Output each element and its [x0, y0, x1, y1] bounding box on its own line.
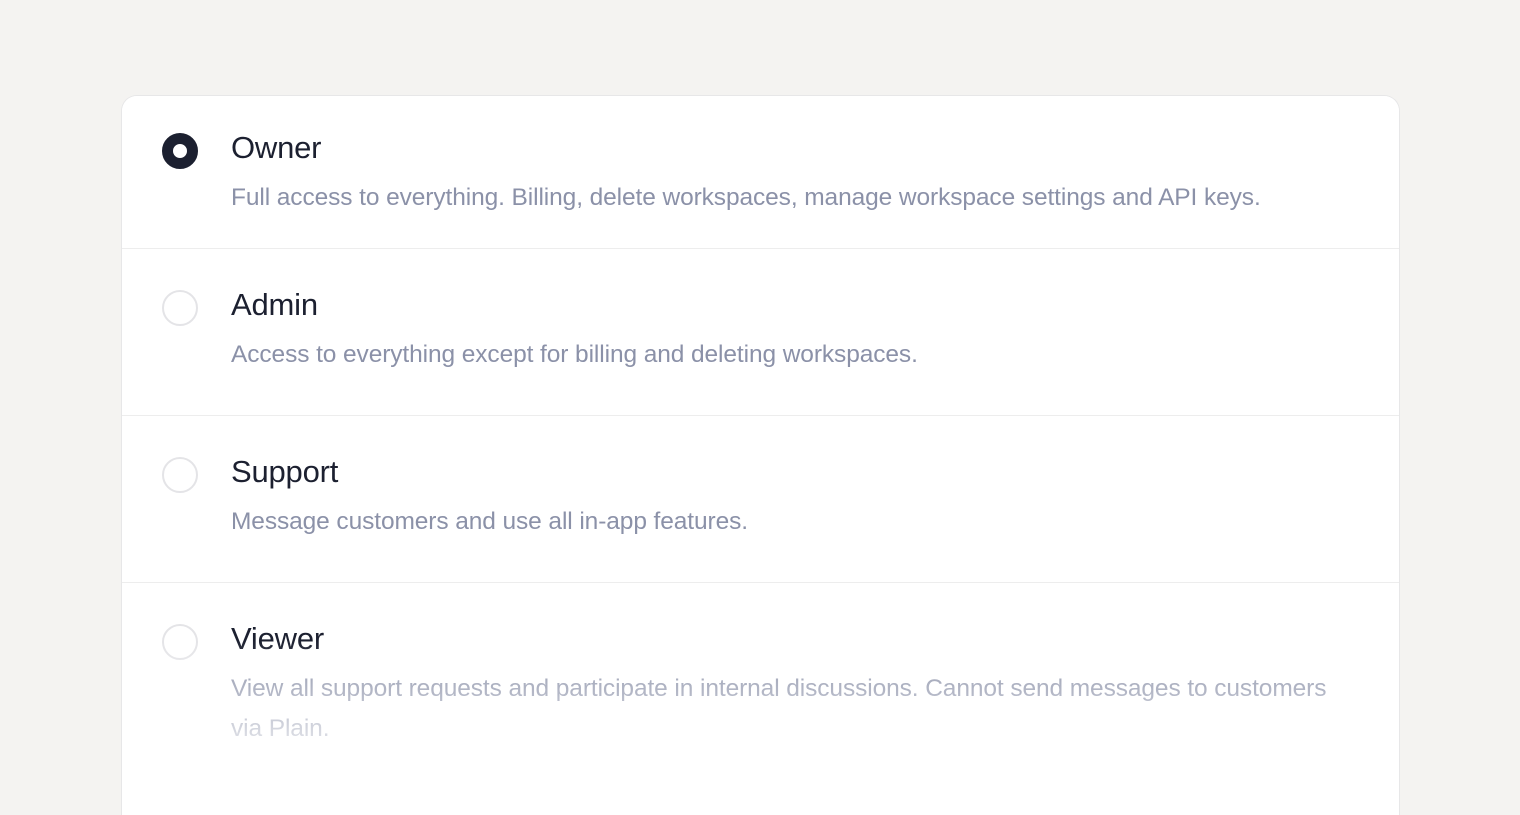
role-option-text-viewer: Viewer View all support requests and par…	[231, 620, 1359, 749]
role-option-label-owner: Owner	[231, 129, 1359, 167]
role-option-admin[interactable]: Admin Access to everything except for bi…	[122, 249, 1399, 416]
radio-unselected-icon[interactable]	[162, 290, 198, 326]
radio-unselected-glyph	[162, 624, 198, 660]
radio-selected-icon[interactable]	[162, 133, 198, 169]
radio-unselected-icon[interactable]	[162, 624, 198, 660]
role-option-viewer[interactable]: Viewer View all support requests and par…	[122, 583, 1399, 789]
role-option-support[interactable]: Support Message customers and use all in…	[122, 416, 1399, 583]
role-option-description-owner: Full access to everything. Billing, dele…	[231, 178, 1306, 218]
radio-unselected-glyph	[162, 290, 198, 326]
radio-selected-glyph	[162, 133, 198, 169]
role-option-text-admin: Admin Access to everything except for bi…	[231, 286, 1359, 375]
role-option-owner[interactable]: Owner Full access to everything. Billing…	[122, 96, 1399, 249]
role-option-description-support: Message customers and use all in-app fea…	[231, 502, 1351, 542]
role-selector-card: Owner Full access to everything. Billing…	[121, 95, 1400, 815]
role-option-list: Owner Full access to everything. Billing…	[122, 96, 1399, 789]
radio-unselected-icon[interactable]	[162, 457, 198, 493]
role-option-label-viewer: Viewer	[231, 620, 1359, 658]
role-option-label-admin: Admin	[231, 286, 1359, 324]
role-option-description-admin: Access to everything except for billing …	[231, 335, 1351, 375]
role-option-text-support: Support Message customers and use all in…	[231, 453, 1359, 542]
radio-unselected-glyph	[162, 457, 198, 493]
role-option-description-viewer: View all support requests and participat…	[231, 669, 1359, 749]
role-option-label-support: Support	[231, 453, 1359, 491]
role-option-text-owner: Owner Full access to everything. Billing…	[231, 129, 1359, 218]
